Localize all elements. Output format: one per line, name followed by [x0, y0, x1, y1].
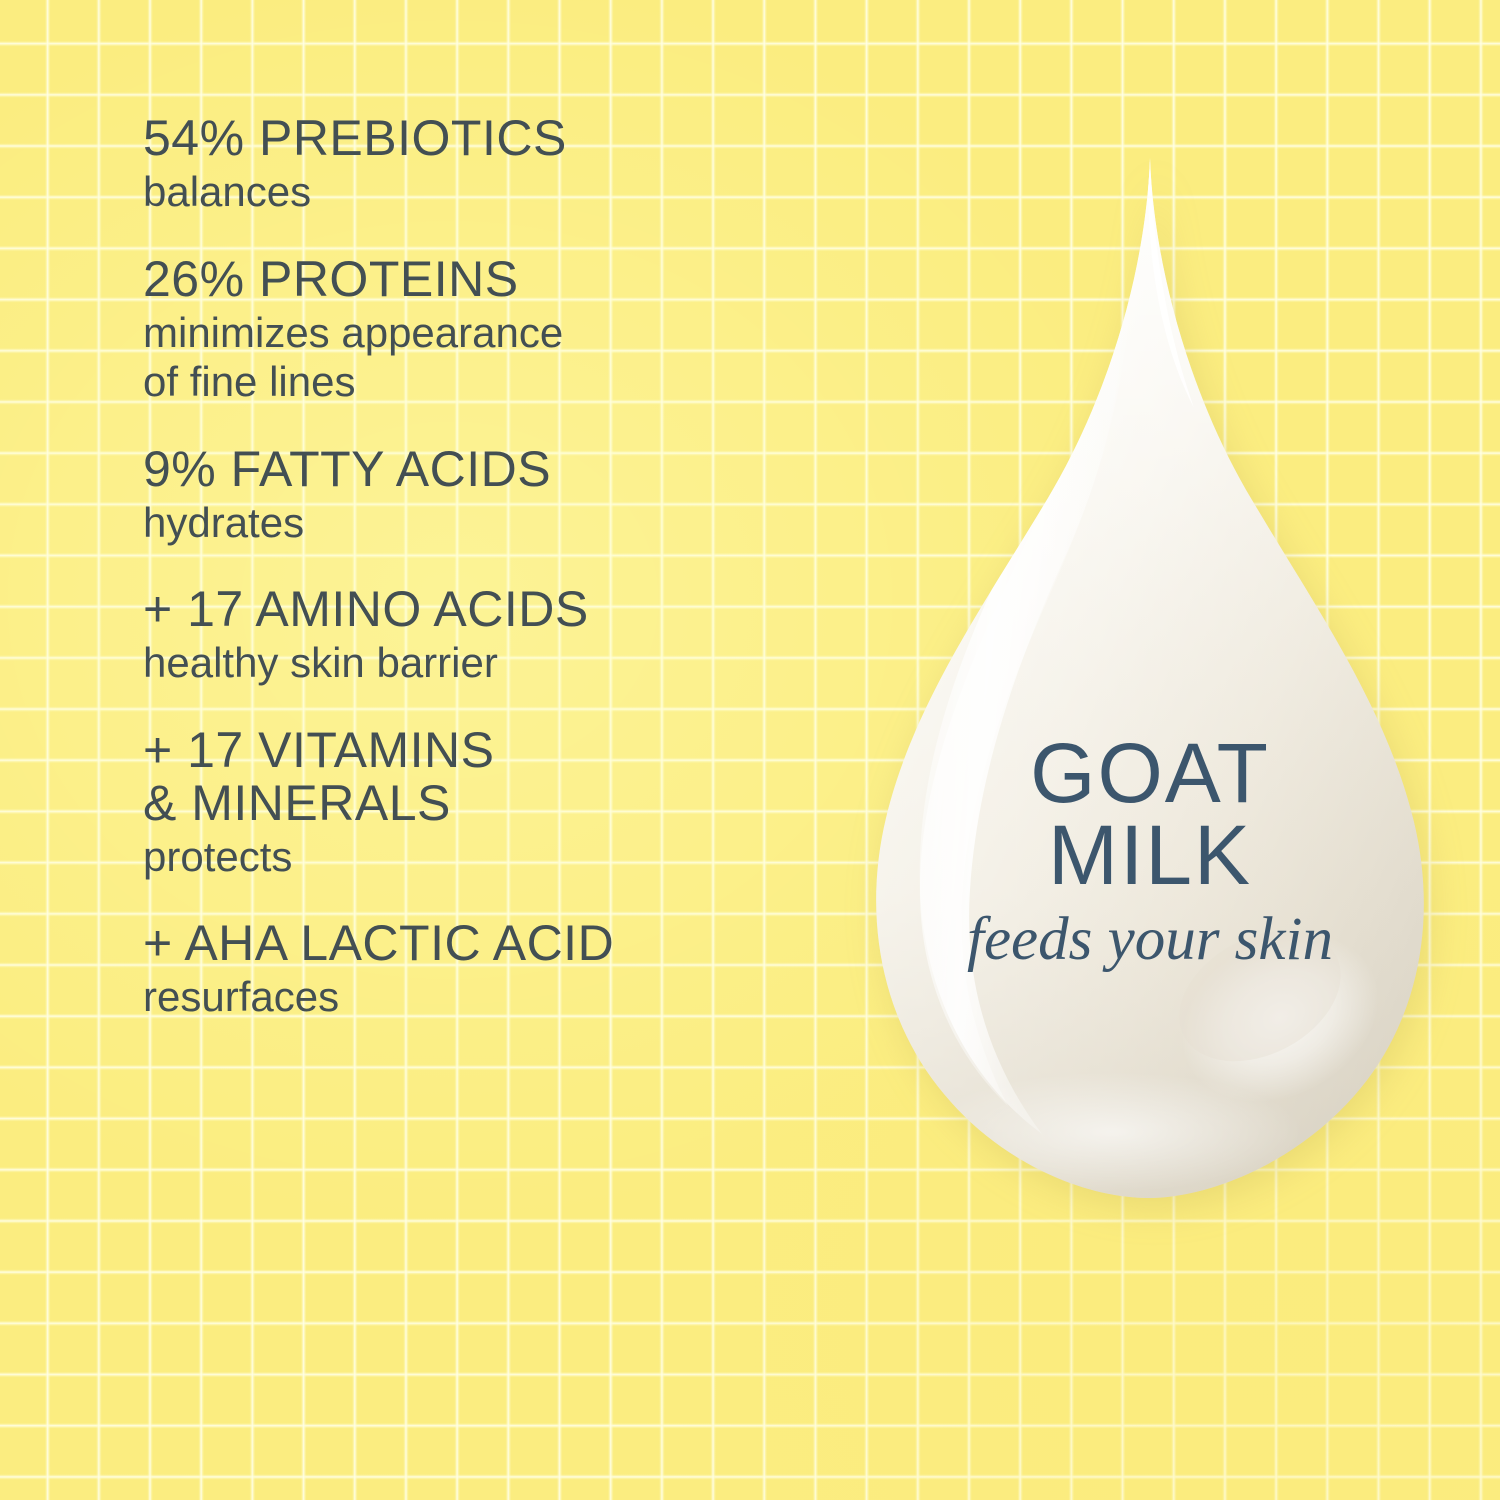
- ingredient-list: 54% PREBIOTICS balances 26% PROTEINS min…: [143, 112, 843, 1022]
- ingredient-item-prebiotics: 54% PREBIOTICS balances: [143, 112, 843, 217]
- ingredient-benefit: balances: [143, 167, 843, 217]
- ingredient-item-vitamins-minerals: + 17 VITAMINS & MINERALS protects: [143, 724, 843, 882]
- milk-droplet-icon: [862, 150, 1438, 1205]
- ingredient-benefit: healthy skin barrier: [143, 638, 843, 688]
- droplet-bottom-bounce: [922, 1072, 1302, 1192]
- ingredient-title: 9% FATTY ACIDS: [143, 443, 843, 496]
- ingredient-title: + AHA LACTIC ACID: [143, 917, 843, 970]
- ingredient-benefit: minimizes appearance of fine lines: [143, 308, 843, 407]
- ingredient-title: 26% PROTEINS: [143, 253, 843, 306]
- ingredient-item-aha-lactic-acid: + AHA LACTIC ACID resurfaces: [143, 917, 843, 1022]
- ingredient-benefit: resurfaces: [143, 972, 843, 1022]
- ingredient-title: 54% PREBIOTICS: [143, 112, 843, 165]
- ingredient-title: + 17 AMINO ACIDS: [143, 583, 843, 636]
- ingredient-item-fatty-acids: 9% FATTY ACIDS hydrates: [143, 443, 843, 548]
- milk-droplet-graphic: GOAT MILK feeds your skin: [862, 150, 1438, 1205]
- ingredient-title: + 17 VITAMINS & MINERALS: [143, 724, 843, 830]
- ingredient-item-proteins: 26% PROTEINS minimizes appearance of fin…: [143, 253, 843, 407]
- ingredient-benefit: protects: [143, 832, 843, 882]
- product-infographic: 54% PREBIOTICS balances 26% PROTEINS min…: [0, 0, 1500, 1500]
- ingredient-benefit: hydrates: [143, 498, 843, 548]
- ingredient-item-amino-acids: + 17 AMINO ACIDS healthy skin barrier: [143, 583, 843, 688]
